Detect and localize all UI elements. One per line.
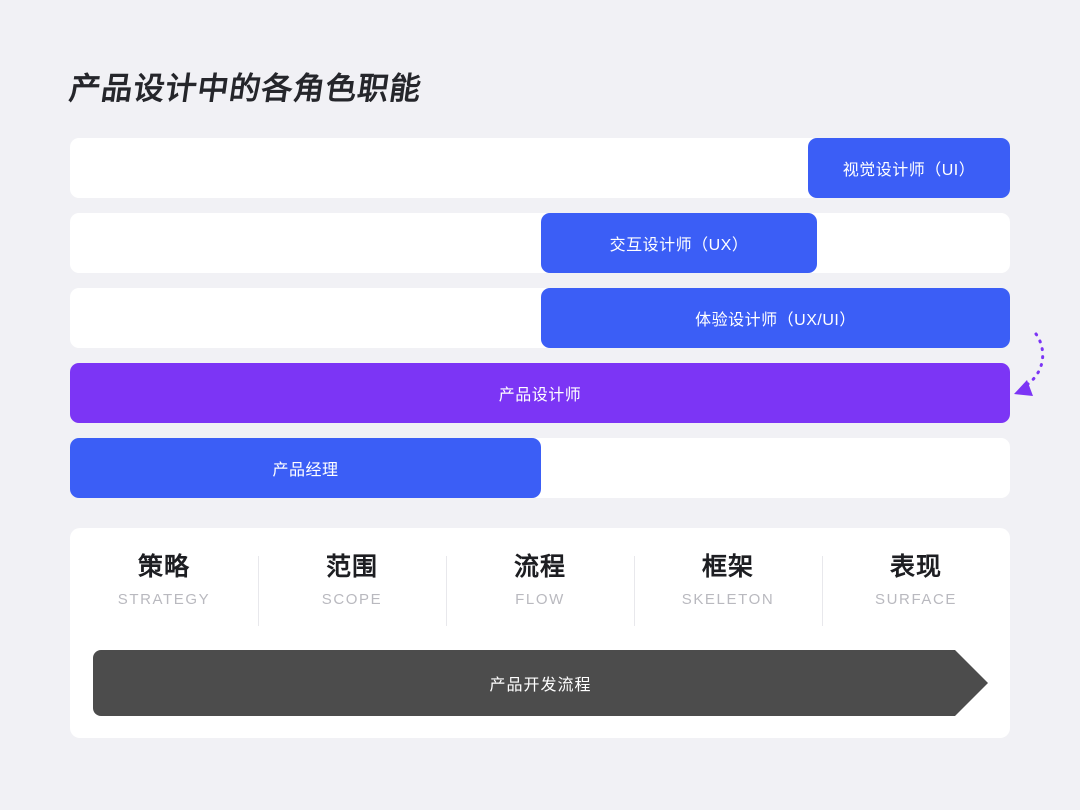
stage-item-skeleton: 框架 SKELETON xyxy=(634,550,822,634)
role-bar-experience-designer[interactable]: 体验设计师（UX/UI） xyxy=(541,288,1010,348)
stage-item-scope: 范围 SCOPE xyxy=(258,550,446,634)
role-bar-visual-designer[interactable]: 视觉设计师（UI） xyxy=(808,138,1010,198)
role-bar-interaction-designer[interactable]: 交互设计师（UX） xyxy=(541,213,817,273)
stage-label-en: FLOW xyxy=(515,590,565,610)
stage-label-cn: 表现 xyxy=(890,550,942,584)
role-row: 视觉设计师（UI） xyxy=(70,138,1010,198)
role-row: 交互设计师（UX） xyxy=(70,213,1010,273)
dotted-curved-arrow-icon xyxy=(1002,330,1072,410)
process-arrow-banner: 产品开发流程 xyxy=(93,650,988,716)
stage-label-en: STRATEGY xyxy=(118,590,211,610)
stage-item-surface: 表现 SURFACE xyxy=(822,550,1010,634)
stage-card: 策略 STRATEGY 范围 SCOPE 流程 FLOW 框架 SKELETON… xyxy=(70,528,1010,738)
process-arrow-label: 产品开发流程 xyxy=(489,671,591,695)
stage-label-cn: 范围 xyxy=(326,550,378,584)
stage-item-flow: 流程 FLOW xyxy=(446,550,634,634)
role-bar-label: 产品设计师 xyxy=(499,381,582,405)
infographic-root: 产品设计中的各角色职能 视觉设计师（UI） 交互设计师（UX） 体验设计师（UX… xyxy=(0,0,1080,810)
role-bar-product-manager[interactable]: 产品经理 xyxy=(70,438,541,498)
role-bar-product-designer[interactable]: 产品设计师 xyxy=(70,363,1010,423)
stage-label-cn: 流程 xyxy=(514,550,566,584)
role-row: 产品经理 xyxy=(70,438,1010,498)
role-bar-label: 体验设计师（UX/UI） xyxy=(695,306,856,330)
page-title: 产品设计中的各角色职能 xyxy=(67,63,425,108)
role-row: 产品设计师 xyxy=(70,363,1010,423)
role-rows: 视觉设计师（UI） 交互设计师（UX） 体验设计师（UX/UI） 产品设计师 产… xyxy=(70,138,1010,513)
stage-label-en: SCOPE xyxy=(322,590,383,610)
stage-label-cn: 策略 xyxy=(138,550,190,584)
role-bar-label: 交互设计师（UX） xyxy=(610,231,749,255)
stage-list: 策略 STRATEGY 范围 SCOPE 流程 FLOW 框架 SKELETON… xyxy=(70,550,1010,634)
stage-label-en: SURFACE xyxy=(875,590,957,610)
role-bar-label: 产品经理 xyxy=(272,456,338,480)
stage-label-cn: 框架 xyxy=(702,550,754,584)
role-row: 体验设计师（UX/UI） xyxy=(70,288,1010,348)
stage-label-en: SKELETON xyxy=(682,590,775,610)
stage-item-strategy: 策略 STRATEGY xyxy=(70,550,258,634)
role-bar-label: 视觉设计师（UI） xyxy=(843,156,976,180)
